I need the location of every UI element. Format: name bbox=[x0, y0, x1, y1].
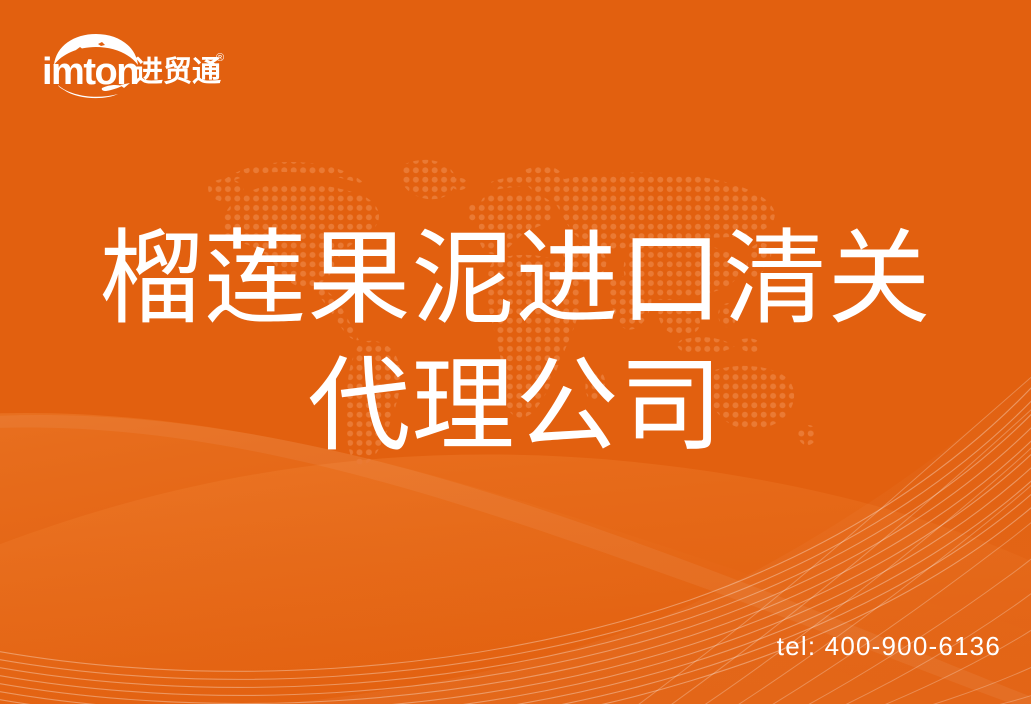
logo-trademark-symbol: ® bbox=[216, 53, 224, 64]
logo-wordmark-latin: imton bbox=[42, 52, 138, 92]
logo-wordmark-chinese: 进贸通 bbox=[134, 57, 221, 88]
headline-block: 榴莲果泥进口清关 代理公司 bbox=[0, 215, 1031, 469]
contact-phone[interactable]: tel: 400-900-6136 bbox=[777, 631, 1001, 662]
headline-line-1: 榴莲果泥进口清关 bbox=[0, 215, 1031, 342]
brand-logo[interactable]: imton 进贸通 ® bbox=[42, 30, 222, 100]
promo-banner: imton 进贸通 ® 榴莲果泥进口清关 代理公司 tel: 400-900-6… bbox=[0, 0, 1031, 704]
headline-line-2: 代理公司 bbox=[0, 342, 1031, 469]
